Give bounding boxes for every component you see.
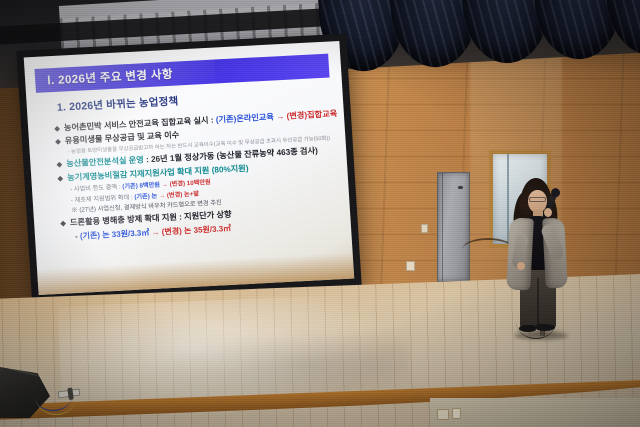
presenter-glasses <box>529 197 546 202</box>
bullet-diamond-icon: ◆ <box>57 175 63 183</box>
projection-screen: Ⅰ. 2026년 주요 변경 사항 1. 2026년 바뀌는 농업정책 ◆ 농어… <box>16 34 361 303</box>
projection-screen-surface: Ⅰ. 2026년 주요 변경 사항 1. 2026년 바뀌는 농업정책 ◆ 농어… <box>24 41 355 295</box>
bullet-diamond-icon: ◆ <box>56 160 62 168</box>
presenter <box>500 178 574 338</box>
bullet-4-sub-2-old: (기존) 논 <box>134 192 157 200</box>
floor-below-stage <box>430 398 640 427</box>
bullet-4-sub-2-prefix: - 제초제 지원범위 확대 : <box>71 193 135 203</box>
door-handle-icon[interactable] <box>458 186 463 189</box>
light-switch-plate[interactable] <box>421 224 428 233</box>
stage-presentation-scene: Ⅰ. 2026년 주요 변경 사항 1. 2026년 바뀌는 농업정책 ◆ 농어… <box>0 0 640 427</box>
presenter-shoe-left <box>519 325 536 332</box>
bullet-diamond-icon: ◆ <box>55 138 61 146</box>
bullet-4-sub-2-new: (변경) 논+밭 <box>167 190 200 199</box>
presenter-hand-right <box>544 208 552 217</box>
bullet-4-sub-1-arrow: → <box>160 181 170 188</box>
bullet-4-sub-1-old: (기존) 8백만원 <box>122 182 160 191</box>
bullet-5-sub-1-old: (기존) 논 33원/3.3㎡ <box>80 228 150 241</box>
bullet-4-sub-1-new: (변경) 10백만원 <box>169 179 211 188</box>
bullet-1-arrow: → <box>274 112 287 122</box>
bullet-4-sub-1-prefix: - 사업비 한도 증액 : <box>70 184 123 194</box>
bullet-3-text: 농산물안전분석실 운영 <box>66 155 144 168</box>
bullet-diamond-icon: ◆ <box>60 219 66 227</box>
slide-title-bar: Ⅰ. 2026년 주요 변경 사항 <box>34 54 329 93</box>
stage-front-outlet-2 <box>452 408 461 419</box>
slide-subtitle: 1. 2026년 바뀌는 농업정책 <box>56 93 178 114</box>
bullet-5-sub-1-arrow: → <box>149 227 162 237</box>
stage-front-outlet <box>437 409 449 420</box>
slide-title: Ⅰ. 2026년 주요 변경 사항 <box>35 66 174 89</box>
slide-body: ◆ 농어촌민박 서비스 안전교육 집합교육 실시 : (기존)온라인교육 → (… <box>54 110 337 243</box>
bullet-1-new: (변경)집합교육 <box>286 109 337 121</box>
bullet-5-sub-1-new: (변경) 논 35원/3.3㎡ <box>161 224 231 237</box>
bullet-1-old: (기존)온라인교육 <box>216 112 275 124</box>
bullet-diamond-icon: ◆ <box>54 125 60 133</box>
presenter-hand-left <box>517 262 525 270</box>
wall-outlet-plate <box>406 261 415 271</box>
stage-side-door[interactable] <box>437 172 470 282</box>
presenter-shoe-right <box>536 324 555 331</box>
projection-screen-frame: Ⅰ. 2026년 주요 변경 사항 1. 2026년 바뀌는 농업정책 ◆ 농어… <box>16 34 361 303</box>
